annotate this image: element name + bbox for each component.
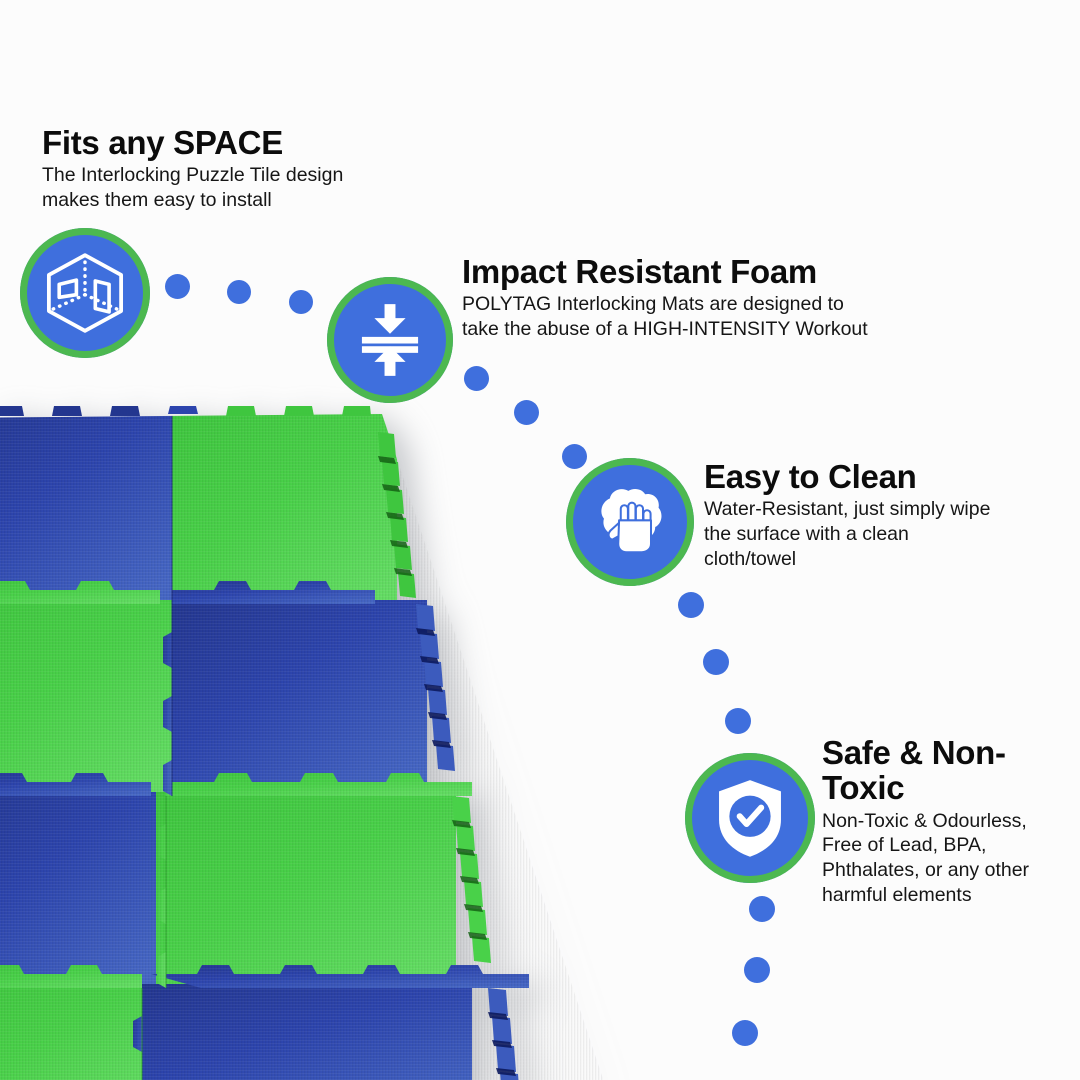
feature-icon-fits-any-space (20, 228, 150, 358)
trail-dot (562, 444, 587, 469)
feature-title: Fits any SPACE (42, 126, 372, 160)
trail-dot (725, 708, 751, 734)
trail-dot (514, 400, 539, 425)
feature-text-fits-any-space: Fits any SPACE The Interlocking Puzzle T… (42, 126, 372, 213)
shield-check-icon (707, 775, 793, 861)
feature-text-easy-to-clean: Easy to Clean Water-Resistant, just simp… (704, 460, 1004, 572)
feature-description: POLYTAG Interlocking Mats are designed t… (462, 292, 882, 342)
feature-icon-impact-resistant-foam (327, 277, 453, 403)
feature-title: Safe & Non-Toxic (822, 735, 1052, 806)
room-corner-icon (42, 250, 128, 336)
feature-title: Easy to Clean (704, 460, 1004, 494)
feature-description: Water-Resistant, just simply wipe the su… (704, 497, 1004, 571)
trail-dot (227, 280, 251, 304)
feature-text-safe-non-toxic: Safe & Non-Toxic Non-Toxic & Odourless, … (822, 735, 1052, 908)
trail-dot (749, 896, 775, 922)
feature-description: The Interlocking Puzzle Tile design make… (42, 163, 372, 213)
feature-description: Non-Toxic & Odourless, Free of Lead, BPA… (822, 809, 1052, 908)
compression-arrows-icon (351, 301, 429, 379)
feature-icon-safe-non-toxic (685, 753, 815, 883)
trail-dot (464, 366, 489, 391)
trail-dot (703, 649, 729, 675)
feature-text-impact-resistant-foam: Impact Resistant Foam POLYTAG Interlocki… (462, 255, 882, 342)
trail-dot (165, 274, 190, 299)
trail-dot (289, 290, 313, 314)
trail-dot (678, 592, 704, 618)
trail-dot (744, 957, 770, 983)
infographic-canvas: Fits any SPACE The Interlocking Puzzle T… (0, 0, 1080, 1080)
feature-icon-easy-to-clean (566, 458, 694, 586)
hand-wiping-cloth-icon (588, 480, 672, 564)
feature-title: Impact Resistant Foam (462, 255, 882, 289)
trail-dot (732, 1020, 758, 1046)
